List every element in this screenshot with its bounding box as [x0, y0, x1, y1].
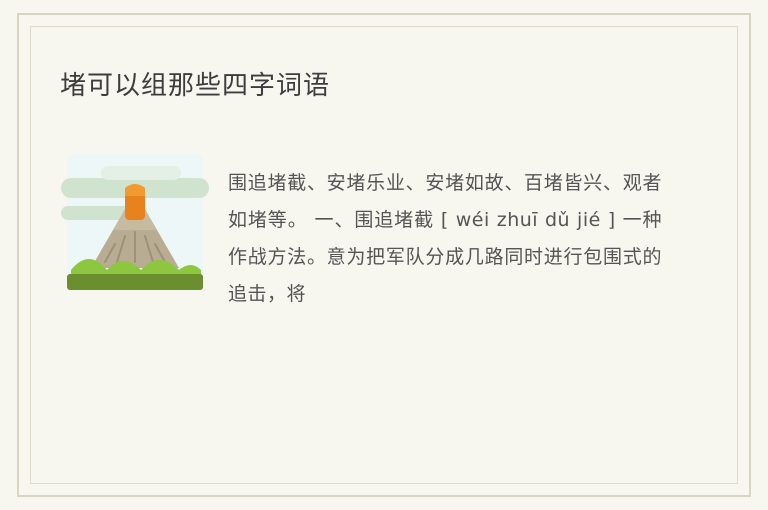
volcano-illustration	[61, 148, 209, 296]
page-title: 堵可以组那些四字词语	[60, 68, 680, 104]
body-paragraph: 围追堵截、安堵乐业、安堵如故、百堵皆兴、观者如堵等。 一、围追堵截 [ wéi …	[228, 165, 662, 313]
document-page: 堵可以组那些四字词语 围追堵截、安堵乐业、安堵如故、百堵皆兴、观者如堵等。 一、…	[0, 0, 768, 510]
